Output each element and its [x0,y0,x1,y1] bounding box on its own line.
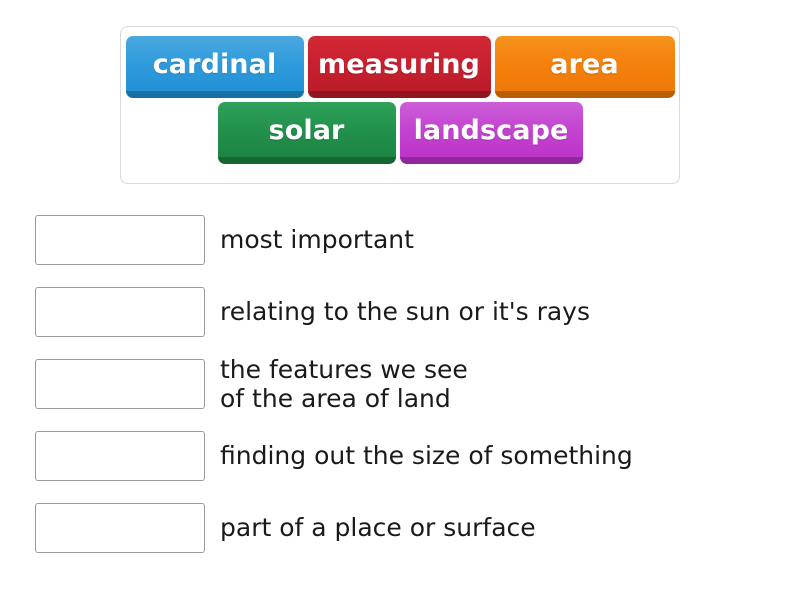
answer-row: relating to the sun or it's rays [0,276,800,348]
answer-row: finding out the size of something [0,420,800,492]
definition-text-4: finding out the size of something [220,441,633,471]
word-tile-solar[interactable]: solar [218,102,396,164]
word-tile-measuring[interactable]: measuring [308,36,491,98]
word-tile-area[interactable]: area [495,36,675,98]
drop-zone-3[interactable] [35,359,205,409]
word-bank-row-2: solar landscape [121,102,679,164]
definition-text-2: relating to the sun or it's rays [220,297,590,327]
definition-text-3: the features we see of the area of land [220,355,468,414]
word-bank-row-1: cardinal measuring area [121,36,679,98]
answer-row: the features we see of the area of land [0,348,800,420]
drop-zone-5[interactable] [35,503,205,553]
drop-zone-1[interactable] [35,215,205,265]
definition-text-5: part of a place or surface [220,513,536,543]
word-bank-panel: cardinal measuring area solar landscape [120,26,680,184]
word-tile-landscape[interactable]: landscape [400,102,583,164]
drop-zone-4[interactable] [35,431,205,481]
drop-zone-2[interactable] [35,287,205,337]
answer-list: most important relating to the sun or it… [0,204,800,564]
definition-text-1: most important [220,225,414,255]
answer-row: most important [0,204,800,276]
answer-row: part of a place or surface [0,492,800,564]
word-tile-cardinal[interactable]: cardinal [126,36,304,98]
